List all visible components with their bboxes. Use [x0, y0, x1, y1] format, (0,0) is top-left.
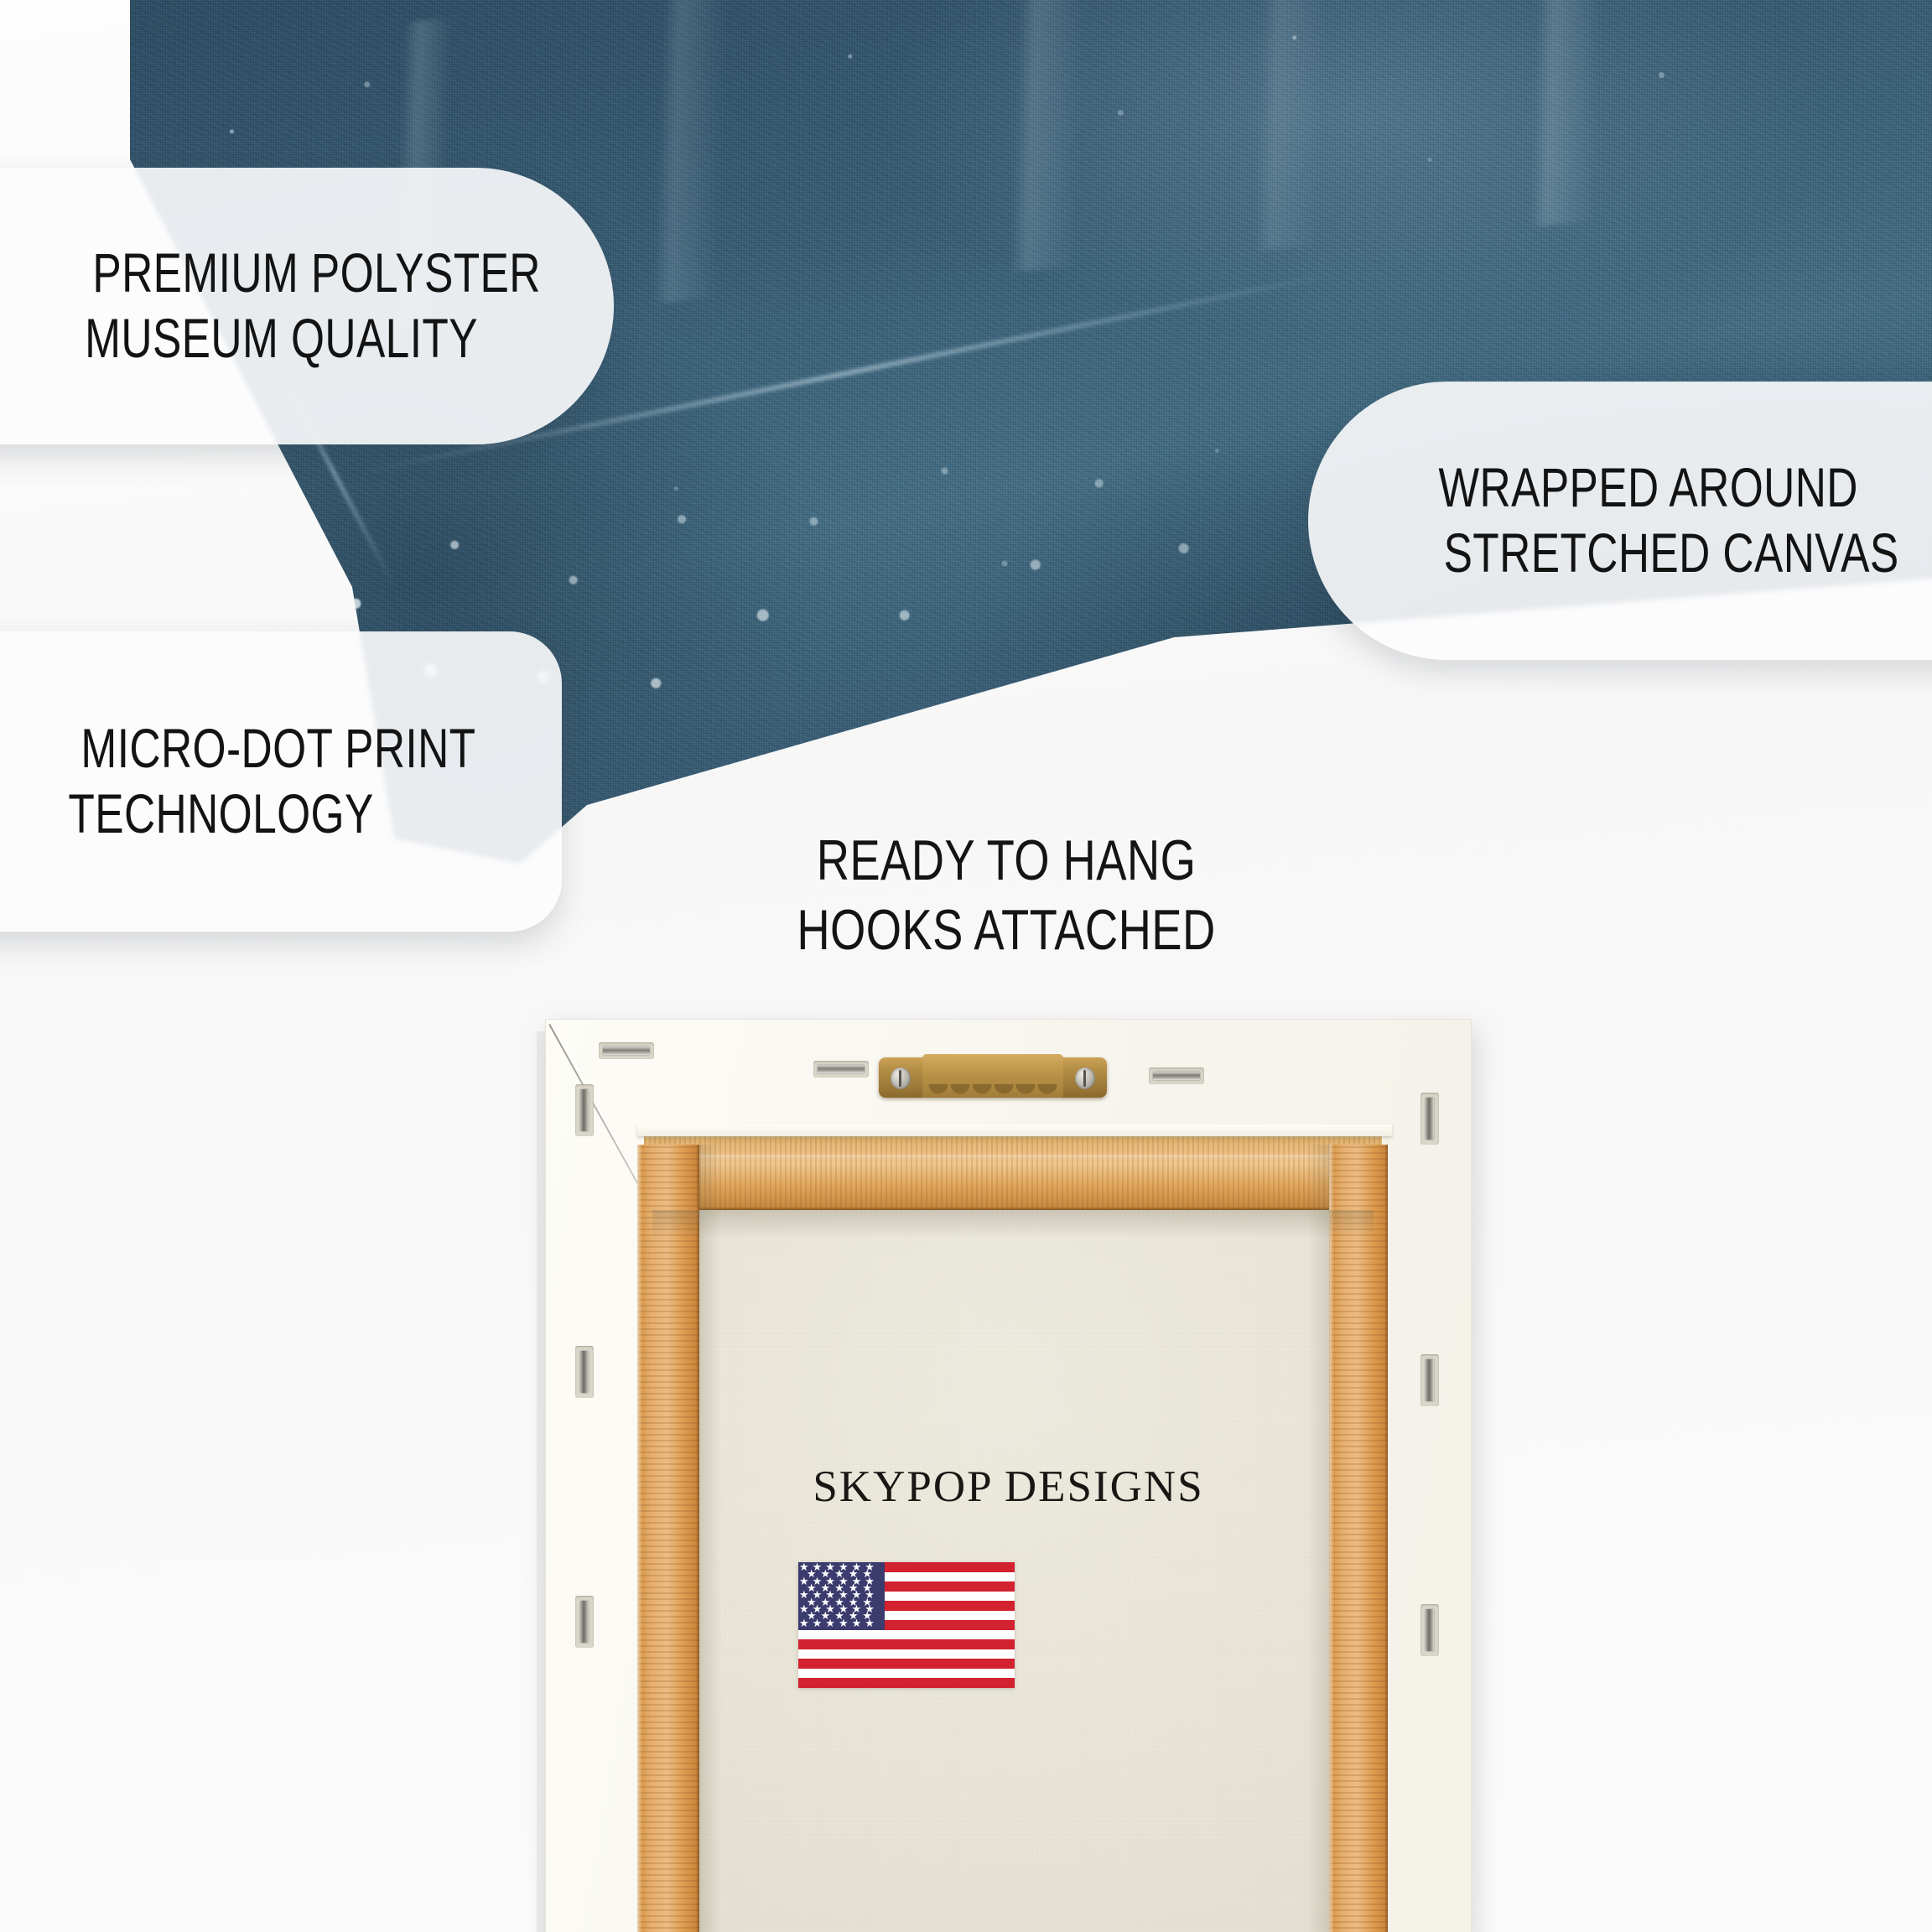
recess-shadow-left — [699, 1145, 721, 1932]
staple-top-left — [603, 1046, 650, 1055]
callout-micro-dot-print: MICRO-DOT PRINT TECHNOLOGY — [0, 631, 562, 932]
stretcher-bar-left — [637, 1145, 699, 1932]
sawtooth-hanger-icon — [879, 1054, 1107, 1104]
flag-star: ★ — [825, 1618, 835, 1628]
product-feature-graphic: PREMIUM POLYSTER MUSEUM QUALITY WRAPPED … — [0, 0, 1932, 1932]
staple-left-1 — [580, 1089, 589, 1131]
callout-line-1: MICRO-DOT PRINT — [80, 716, 475, 782]
flag-star: ★ — [865, 1618, 875, 1628]
flag-star: ★ — [852, 1618, 862, 1628]
wood-grain-right — [1329, 1145, 1388, 1932]
staple-left-3 — [580, 1601, 589, 1643]
callout-line-2: TECHNOLOGY — [68, 782, 373, 847]
recess-shadow-top — [652, 1210, 1374, 1239]
staple-right-3 — [1426, 1609, 1434, 1651]
staple-left-2 — [580, 1351, 589, 1393]
flag-star: ★ — [839, 1618, 849, 1628]
staple-top-mid-left — [818, 1065, 865, 1073]
hanger-screw-right — [1075, 1067, 1095, 1089]
bar-left-bevel — [637, 1145, 642, 1932]
ready-to-hang-heading: READY TO HANG HOOKS ATTACHED — [704, 826, 1308, 965]
hanger-teeth — [927, 1084, 1060, 1101]
callout-wrapped-around: WRAPPED AROUND STRETCHED CANVAS — [1308, 382, 1932, 660]
flag-star: ★ — [799, 1618, 809, 1628]
flag-canton: ★★★★★★★★★★★★★★★★★★★★★★★★★★★★★★★★★★★★★★★★… — [798, 1562, 885, 1630]
stretcher-bar-top — [644, 1133, 1382, 1210]
bar-top-inner-bevel — [644, 1155, 1382, 1161]
heading-line-2: HOOKS ATTACHED — [765, 896, 1248, 965]
flag-stripe — [798, 1669, 1015, 1679]
staple-right-2 — [1426, 1359, 1434, 1401]
bar-right-dark-edge — [1384, 1145, 1388, 1932]
wood-grain-top — [644, 1133, 1382, 1210]
brand-name: SKYPOP DESIGNS — [545, 1462, 1472, 1512]
flag-stripe — [798, 1659, 1015, 1669]
heading-line-1: READY TO HANG — [765, 826, 1248, 896]
callout-premium-polyster: PREMIUM POLYSTER MUSEUM QUALITY — [0, 168, 614, 444]
canvas-top-lip — [637, 1124, 1392, 1136]
wood-grain-left — [637, 1145, 699, 1932]
flag-stripe — [798, 1649, 1015, 1659]
callout-line-2: STRETCHED CANVAS — [1444, 521, 1899, 586]
canvas-back-product: SKYPOP DESIGNS ★★★★★★★★★★★★★★★★★★★★★★★★★… — [545, 1019, 1472, 1932]
flag-stripe — [798, 1630, 1015, 1640]
stretcher-bar-right — [1329, 1145, 1388, 1932]
callout-line-1: PREMIUM POLYSTER — [92, 241, 540, 306]
hanger-screw-left — [891, 1067, 911, 1089]
flag-star: ★ — [813, 1618, 823, 1628]
callout-line-1: WRAPPED AROUND — [1439, 455, 1858, 521]
flag-stripe — [798, 1678, 1015, 1688]
inner-canvas-panel — [652, 1143, 1374, 1932]
staple-top-mid-right — [1153, 1072, 1200, 1080]
flag-stripe — [798, 1639, 1015, 1649]
us-flag-icon: ★★★★★★★★★★★★★★★★★★★★★★★★★★★★★★★★★★★★★★★★… — [798, 1562, 1015, 1688]
staple-right-1 — [1426, 1098, 1434, 1140]
recess-shadow-right — [1306, 1145, 1330, 1932]
callout-line-2: MUSEUM QUALITY — [85, 306, 478, 371]
